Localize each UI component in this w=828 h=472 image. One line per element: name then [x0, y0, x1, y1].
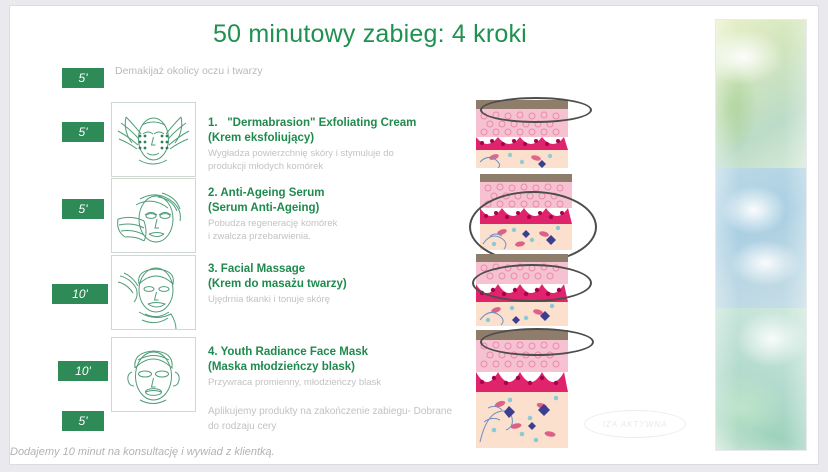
illustration-step-4: [111, 337, 196, 412]
step-1-desc-line1: Wygładza powierzchnię skóry i stymuluje …: [208, 148, 394, 159]
time-badge-3: 5': [62, 199, 104, 219]
time-badge-2: 5': [62, 122, 104, 142]
step-4-desc-line1: Przywraca promienny, młodzieńczy blask: [208, 377, 381, 388]
step-3-heading: 3. Facial Massage (Krem do masażu twarzy…: [208, 262, 448, 291]
time-badge-4: 10': [52, 284, 108, 304]
step-block-4: 4. Youth Radiance Face Mask (Maska młodz…: [208, 345, 448, 389]
highlight-circle-4: [480, 328, 594, 356]
highlight-circle-2: [469, 191, 597, 263]
step-block-1: 1. "Dermabrasion" Exfoliating Cream (Kre…: [208, 116, 448, 173]
step-block-2: 2. Anti-Ageing Serum (Serum Anti-Ageing)…: [208, 186, 448, 243]
step-2-description: Pobudza regenerację komórek i zwalcza pr…: [208, 217, 448, 243]
slide-canvas: 50 minutowy zabieg: 4 kroki Demakijaż ok…: [10, 6, 818, 464]
step-3-title-en: Facial Massage: [221, 263, 305, 275]
step-2-title-pl: (Serum Anti-Ageing): [208, 202, 319, 214]
watermark-badge: IZA AKTYWNA: [584, 410, 686, 438]
decor-image-white-flower-blue: [716, 168, 806, 308]
lead-text: Demakijaż okolicy oczu i twarzy: [115, 65, 263, 77]
time-badge-5: 10': [58, 361, 108, 381]
step-2-title-en: Anti-Ageing Serum: [220, 187, 324, 199]
page-title: 50 minutowy zabieg: 4 kroki: [150, 20, 590, 49]
step-1-description: Wygładza powierzchnię skóry i stymuluje …: [208, 147, 448, 173]
step-3-desc-line1: Ujędrnia tkanki i tonuje skórę: [208, 294, 330, 305]
highlight-circle-1: [480, 97, 592, 123]
step-1-title-pl: (Krem eksfoliujący): [208, 132, 314, 144]
decorative-image-strip: [716, 20, 806, 450]
closing-text: Aplikujemy produkty na zakończenie zabie…: [208, 404, 458, 434]
time-badge-6: 5': [62, 411, 104, 431]
illustration-step-3: [111, 255, 196, 330]
face-hand-serum-icon: [112, 179, 195, 252]
step-4-title-pl: (Maska młodzieńczy blask): [208, 361, 355, 373]
step-2-heading: 2. Anti-Ageing Serum (Serum Anti-Ageing): [208, 186, 448, 215]
face-hands-dermabrasion-icon: [112, 103, 195, 176]
step-2-desc-line2: i zwalcza przebarwienia.: [208, 231, 311, 242]
highlight-circle-3: [472, 264, 592, 302]
decor-image-leaves-green-yellow: [716, 20, 806, 168]
step-3-number: 3.: [208, 263, 218, 275]
step-1-heading: 1. "Dermabrasion" Exfoliating Cream (Kre…: [208, 116, 448, 145]
step-2-desc-line1: Pobudza regenerację komórek: [208, 218, 337, 229]
face-mask-icon: [112, 338, 195, 411]
step-block-3: 3. Facial Massage (Krem do masażu twarzy…: [208, 262, 448, 306]
step-2-number: 2.: [208, 187, 218, 199]
step-4-number: 4.: [208, 346, 218, 358]
step-4-description: Przywraca promienny, młodzieńczy blask: [208, 376, 448, 389]
illustration-step-1: [111, 102, 196, 177]
footer-note: Dodajemy 10 minut na konsultację i wywia…: [10, 446, 440, 458]
step-4-heading: 4. Youth Radiance Face Mask (Maska młodz…: [208, 345, 448, 374]
decor-image-dandelion-green: [716, 308, 806, 450]
face-massage-icon: [112, 256, 195, 329]
step-1-desc-line2: produkcji młodych komórek: [208, 161, 323, 172]
step-3-title-pl: (Krem do masażu twarzy): [208, 278, 347, 290]
step-1-number: 1.: [208, 117, 218, 129]
presentation-slide: 50 minutowy zabieg: 4 kroki Demakijaż ok…: [10, 6, 818, 464]
step-3-description: Ujędrnia tkanki i tonuje skórę: [208, 293, 448, 306]
step-1-title-en: "Dermabrasion" Exfoliating Cream: [227, 117, 416, 129]
illustration-step-2: [111, 178, 196, 253]
time-badge-1: 5': [62, 68, 104, 88]
step-4-title-en: Youth Radiance Face Mask: [221, 346, 368, 358]
